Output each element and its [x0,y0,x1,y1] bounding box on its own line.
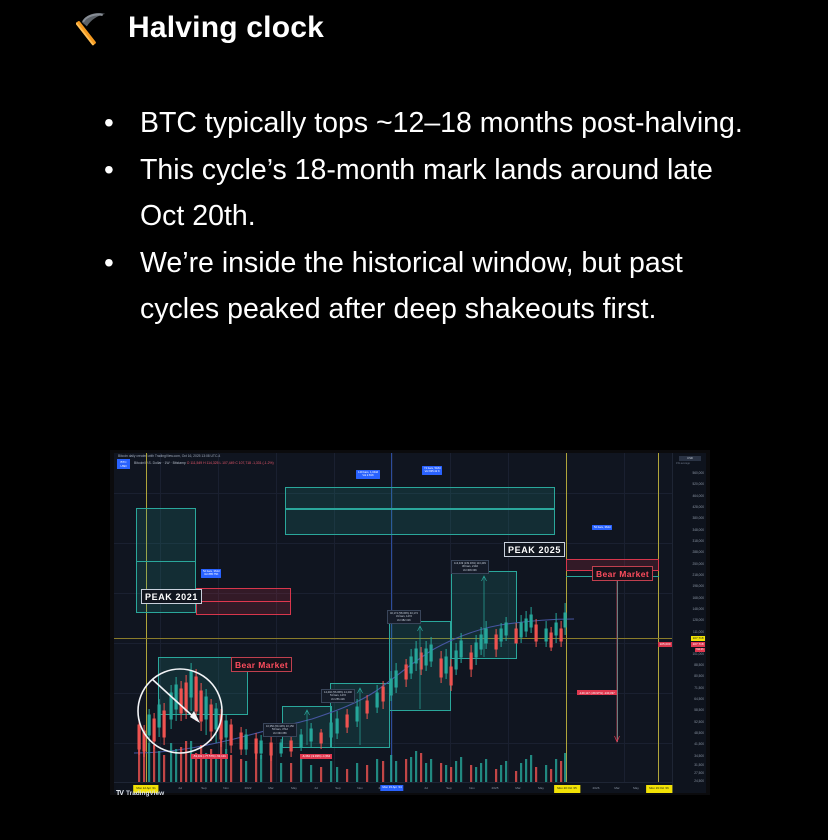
pickaxe-icon [76,8,116,48]
measure-midline-2021 [136,561,196,562]
bear-market-2022-label: Bear Market [231,657,292,672]
price-tick: 464,000 [692,494,704,498]
time-axis[interactable]: Mon 12 Apr '21 Jul Sep Nov 2022 Mar May … [114,782,672,793]
marker-line-oct2025 [566,453,567,782]
chart-legend: Bitcoin/U.S. Dollar · 1W · Bitstamp O 11… [134,461,274,465]
page-title: Halving clock [76,8,324,48]
chart-image: Bitcoin daily created with TradingView.c… [110,450,710,795]
list-item: • BTC typically tops ~12–18 months post-… [104,100,764,147]
price-tick: 168,000 [692,596,704,600]
price-tick: 560,000 [692,471,704,475]
tip-bars-mid-right: 52 bars, 364d [592,525,612,530]
drawdown-arrow-2026 [617,576,618,742]
price-tick: 288,000 [692,550,704,554]
time-tick: 2026 [593,786,600,790]
tradingview-brand-text: TradingView [126,790,164,797]
time-tick: Nov [469,786,475,790]
gridline [218,453,219,793]
price-axis[interactable]: USD 1W average 560,000 520,000 464,000 4… [672,453,706,793]
time-pill-oct2025: Mon 20 Oct '25 [554,785,580,793]
time-tick: Jul [424,786,428,790]
time-tick: Jul [314,786,318,790]
price-tick: 111,000 [693,630,704,634]
time-tick: Jul [178,786,182,790]
bullet-text: BTC typically tops ~12–18 months post-ha… [140,100,764,147]
price-tick: 128,000 [692,618,704,622]
price-tick: 88,500 [694,663,704,667]
time-tick: Mar [268,786,273,790]
price-tick: 24,500 [694,779,704,783]
list-item: • This cycle’s 18-month mark lands aroun… [104,147,764,240]
bullet-list: • BTC typically tops ~12–18 months post-… [104,100,764,333]
tip-bars-top-left: 149 bars, 1,043dVol 2.81K [356,470,380,479]
price-tick: 148,000 [692,607,704,611]
tradingview-chart[interactable]: Bitcoin daily created with TradingView.c… [114,453,706,793]
time-pill-oct2026: Mon 19 Oct '26 [646,785,672,793]
price-tick: 198,000 [692,584,704,588]
bid-price-pill: 107,718 [691,642,705,647]
tip-range-2019: 10,350 (69.44%) 10,15053 bars, 371dVol 3… [263,723,297,737]
measure-box-projection-b [285,509,555,535]
price-tick: 80,500 [694,674,704,678]
time-tick: Sep [335,786,341,790]
marker-line-2021 [146,453,147,782]
list-item: • We’re inside the historical window, bu… [104,240,764,333]
time-tick: Mar [515,786,520,790]
countdown-pill: Vol 2h [695,648,705,652]
price-axis-subheader: 1W average [676,462,690,465]
symbol-badge[interactable]: BTCUSD [117,459,130,469]
gridline [114,743,706,744]
bullet-marker: • [104,147,140,194]
price-tick: 218,000 [692,573,704,577]
time-tick: Mar [614,786,619,790]
ohlc-high: H 114,325 [203,461,218,465]
price-tick: 58,500 [694,708,704,712]
price-tick: 380,000 [692,516,704,520]
price-tick: 34,500 [694,754,704,758]
bullet-text: This cycle’s 18-month mark lands around … [140,147,764,240]
tip-range-2023: 14,440 (56.06%) 14,44051 bars, 147dVol 2… [321,689,355,703]
time-tick: Sep [201,786,207,790]
gridline [276,453,277,793]
tip-bars-top-right: 74 bars, 518dVol 935.42 K [422,466,442,475]
ohlc-change: -1,331 (-1.2%) [252,461,274,465]
measure-midline-bear-2022 [196,601,291,602]
tip-drawdown-2022: -53,101 (-77.57%) -53,101 [191,754,228,759]
bear-market-2026-label: Bear Market [592,566,653,581]
measure-box-2025 [451,571,517,659]
tradingview-logo-icon: TV [116,790,123,797]
gridline [160,453,161,793]
price-tick: 41,500 [694,742,704,746]
last-price-pill: 107,718 [691,636,705,641]
measure-box-projection-a [285,487,555,509]
price-tick: 64,500 [694,697,704,701]
bullet-marker: • [104,100,140,147]
chart-header-note: Bitcoin daily created with TradingView.c… [118,454,220,458]
price-tick: 101,000 [692,652,704,656]
tip-drawdown-2026: -140,117 (-69.97%) -140,337 [577,690,617,695]
tip-drawdown-2019: -6,364 (-9.93%) -1,564 [300,754,332,759]
slide-root: Halving clock • BTC typically tops ~12–1… [0,0,828,840]
time-tick: Sep [446,786,452,790]
peak-2025-label: PEAK 2025 [504,542,565,557]
time-pill-2024: Mon 15 Apr '24 [380,785,403,791]
gridline [114,543,706,544]
price-axis-header: USD [679,456,701,461]
tip-bars-mid-left: 52 bars, 364dVol 885.75K [201,569,221,578]
price-tick: 250,000 [692,562,704,566]
chart-legend-symbol: Bitcoin/U.S. Dollar · 1W · Bitstamp [134,461,186,465]
time-tick: 2025 [492,786,499,790]
ohlc-close: C 107,718 [235,461,251,465]
peak-2021-label: PEAK 2021 [141,589,202,604]
marker-line-oct2026 [658,453,659,782]
gridline [624,453,625,793]
price-tick: 31,500 [694,763,704,767]
price-tick: 520,000 [692,482,704,486]
bullet-marker: • [104,240,140,287]
price-tick: 71,500 [694,686,704,690]
time-tick: May [291,786,297,790]
bullet-text: We’re inside the historical window, but … [140,240,764,333]
time-tick: May [633,786,639,790]
price-tick: 318,000 [692,539,704,543]
time-tick: 2022 [245,786,252,790]
tip-range-2025: 113,439 (139.33%) 113,43930 bars, 210dVo… [451,560,489,574]
time-tick: May [538,786,544,790]
time-tick: Nov [357,786,363,790]
price-tick: 48,500 [694,731,704,735]
price-tick: 428,000 [692,505,704,509]
ohlc-open: O 111,549 [187,461,202,465]
time-tick: Nov [223,786,229,790]
tip-range-2024: 40,174 (58.36%) 40,17431 bars, 147dVol 3… [387,610,421,624]
ohlc-low: L 107,449 [219,461,234,465]
measure-box-2024 [389,621,451,711]
left-price-pill: 105,000 [658,642,672,647]
page-title-text: Halving clock [128,11,324,45]
price-tick: 348,000 [692,528,704,532]
price-tick: 52,500 [694,720,704,724]
price-tick: 27,500 [694,771,704,775]
tradingview-watermark: TV TradingView [116,790,164,797]
